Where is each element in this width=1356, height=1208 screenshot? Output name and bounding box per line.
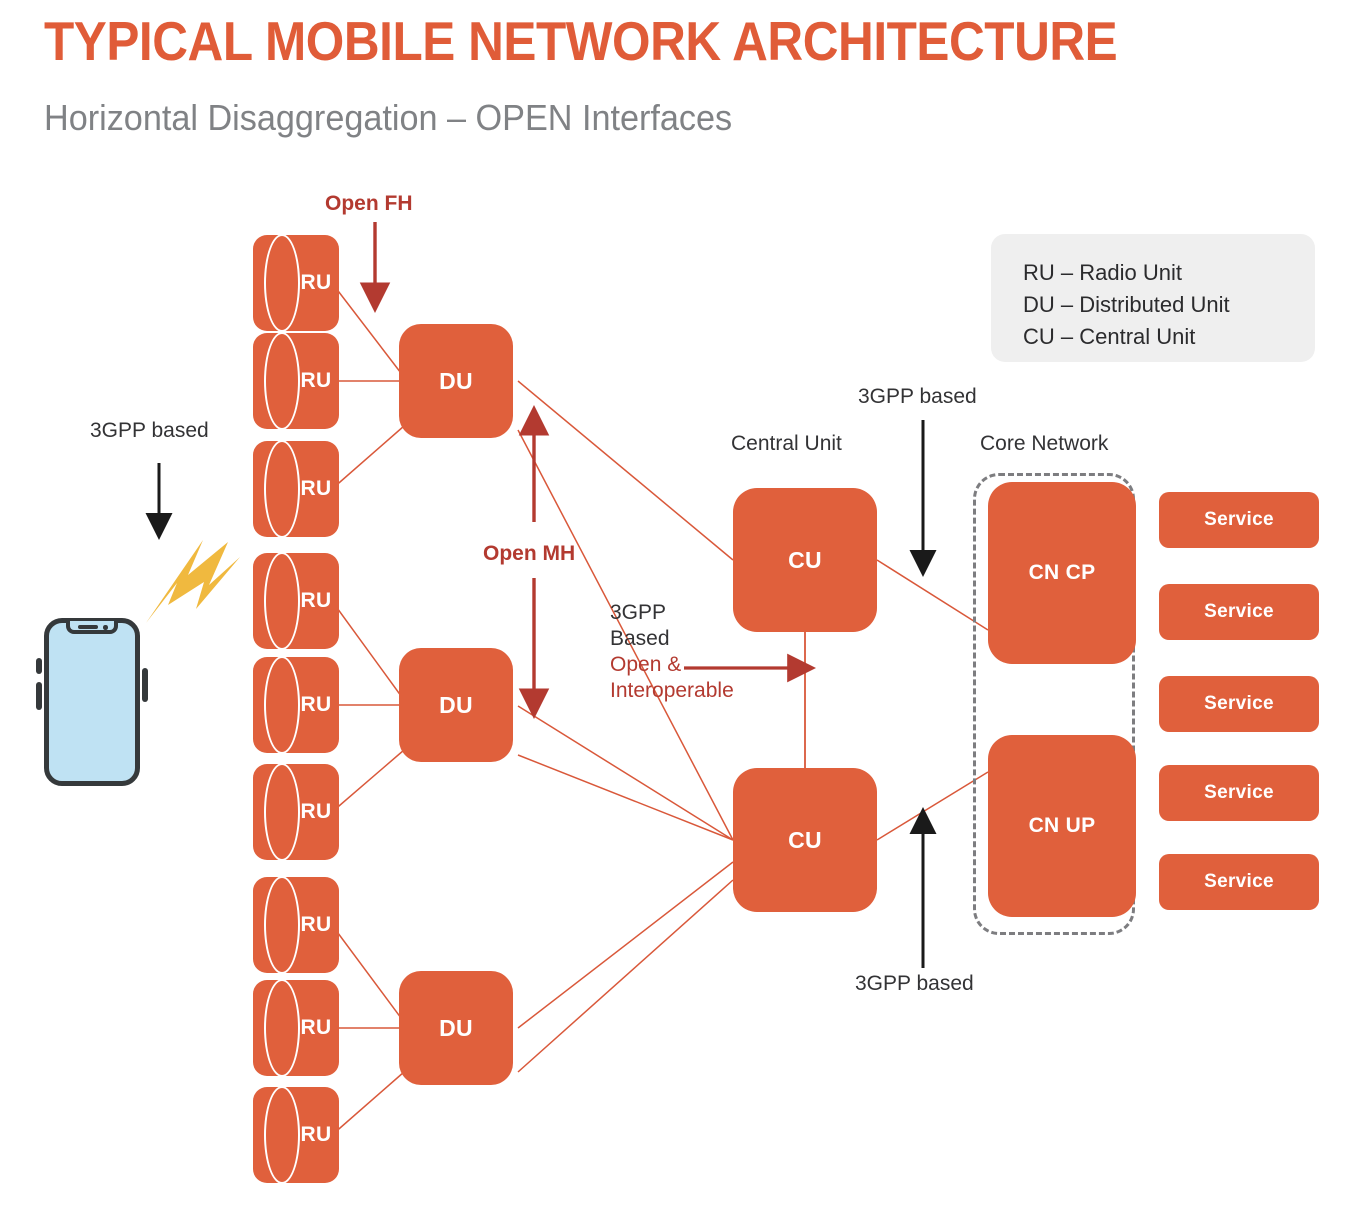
ru-node-label: RU	[293, 764, 339, 860]
phone-mute-button	[36, 658, 42, 674]
up-3gpp-label: 3GPP based	[855, 972, 974, 996]
open-mh-label: Open MH	[483, 542, 575, 566]
du-cu-links	[518, 381, 733, 1072]
ru-du-links-group2	[332, 601, 404, 812]
ru-node-8[interactable]: RU	[253, 980, 339, 1076]
du-node-label: DU	[439, 1015, 473, 1042]
ru-du-links-group1	[332, 283, 404, 489]
legend-item-cu: CU – Central Unit	[1023, 321, 1315, 353]
service-node-1[interactable]: Service	[1159, 492, 1319, 548]
ru-du-links-group3	[332, 925, 404, 1135]
phone-body	[44, 618, 140, 786]
ru-node-label: RU	[293, 333, 339, 429]
phone-camera	[103, 625, 108, 630]
ru-node-label: RU	[293, 235, 339, 331]
ru-node-9[interactable]: RU	[253, 1087, 339, 1183]
du-node-1[interactable]: DU	[399, 324, 513, 438]
ru-node-7[interactable]: RU	[253, 877, 339, 973]
page-title: TYPICAL MOBILE NETWORK ARCHITECTURE	[44, 14, 1117, 69]
ru-node-label: RU	[293, 441, 339, 537]
ru-node-6[interactable]: RU	[253, 764, 339, 860]
service-node-2[interactable]: Service	[1159, 584, 1319, 640]
service-node-label: Service	[1204, 509, 1274, 531]
du-node-3[interactable]: DU	[399, 971, 513, 1085]
du-node-label: DU	[439, 692, 473, 719]
ru-node-2[interactable]: RU	[253, 333, 339, 429]
cn-up-node[interactable]: CN UP	[988, 735, 1136, 917]
service-node-label: Service	[1204, 693, 1274, 715]
service-node-label: Service	[1204, 782, 1274, 804]
ru-node-5[interactable]: RU	[253, 657, 339, 753]
service-node-4[interactable]: Service	[1159, 765, 1319, 821]
cn-cp-node[interactable]: CN CP	[988, 482, 1136, 664]
legend-box: RU – Radio Unit DU – Distributed Unit CU…	[991, 234, 1315, 362]
cu-node-label: CU	[788, 827, 822, 854]
cu-node-1[interactable]: CU	[733, 488, 877, 632]
phone-volume-button	[36, 682, 42, 710]
cu-node-2[interactable]: CU	[733, 768, 877, 912]
mh-line-1: 3GPP	[610, 600, 734, 626]
open-fh-label: Open FH	[325, 192, 413, 216]
mh-line-4: Interoperable	[610, 678, 734, 704]
ru-node-3[interactable]: RU	[253, 441, 339, 537]
ru-node-label: RU	[293, 1087, 339, 1183]
cn-cp-node-label: CN CP	[1029, 561, 1096, 585]
mh-line-2: Based	[610, 626, 734, 652]
du-node-label: DU	[439, 368, 473, 395]
ue-3gpp-label: 3GPP based	[90, 419, 209, 443]
mobile-phone-icon	[44, 618, 140, 786]
ru-node-label: RU	[293, 980, 339, 1076]
ru-node-label: RU	[293, 553, 339, 649]
service-node-label: Service	[1204, 601, 1274, 623]
cu-cn-links	[877, 560, 988, 840]
service-node-3[interactable]: Service	[1159, 676, 1319, 732]
service-node-label: Service	[1204, 871, 1274, 893]
ru-node-1[interactable]: RU	[253, 235, 339, 331]
phone-power-button	[142, 668, 148, 702]
open-interoperable-text-block: 3GPP Based Open & Interoperable	[610, 600, 734, 704]
cn-up-node-label: CN UP	[1029, 814, 1096, 838]
service-node-5[interactable]: Service	[1159, 854, 1319, 910]
ru-node-label: RU	[293, 657, 339, 753]
phone-speaker	[78, 625, 98, 629]
ru-node-label: RU	[293, 877, 339, 973]
du-node-2[interactable]: DU	[399, 648, 513, 762]
cu-node-label: CU	[788, 547, 822, 574]
legend-item-ru: RU – Radio Unit	[1023, 257, 1315, 289]
wireless-bolt-icon	[146, 540, 240, 623]
cp-3gpp-label: 3GPP based	[858, 385, 977, 409]
central-unit-label: Central Unit	[731, 432, 842, 456]
legend-item-du: DU – Distributed Unit	[1023, 289, 1315, 321]
mh-line-3: Open &	[610, 652, 734, 678]
core-network-label: Core Network	[980, 432, 1108, 456]
page-subtitle: Horizontal Disaggregation – OPEN Interfa…	[44, 100, 732, 136]
diagram-canvas: TYPICAL MOBILE NETWORK ARCHITECTURE Hori…	[0, 0, 1356, 1208]
ru-node-4[interactable]: RU	[253, 553, 339, 649]
